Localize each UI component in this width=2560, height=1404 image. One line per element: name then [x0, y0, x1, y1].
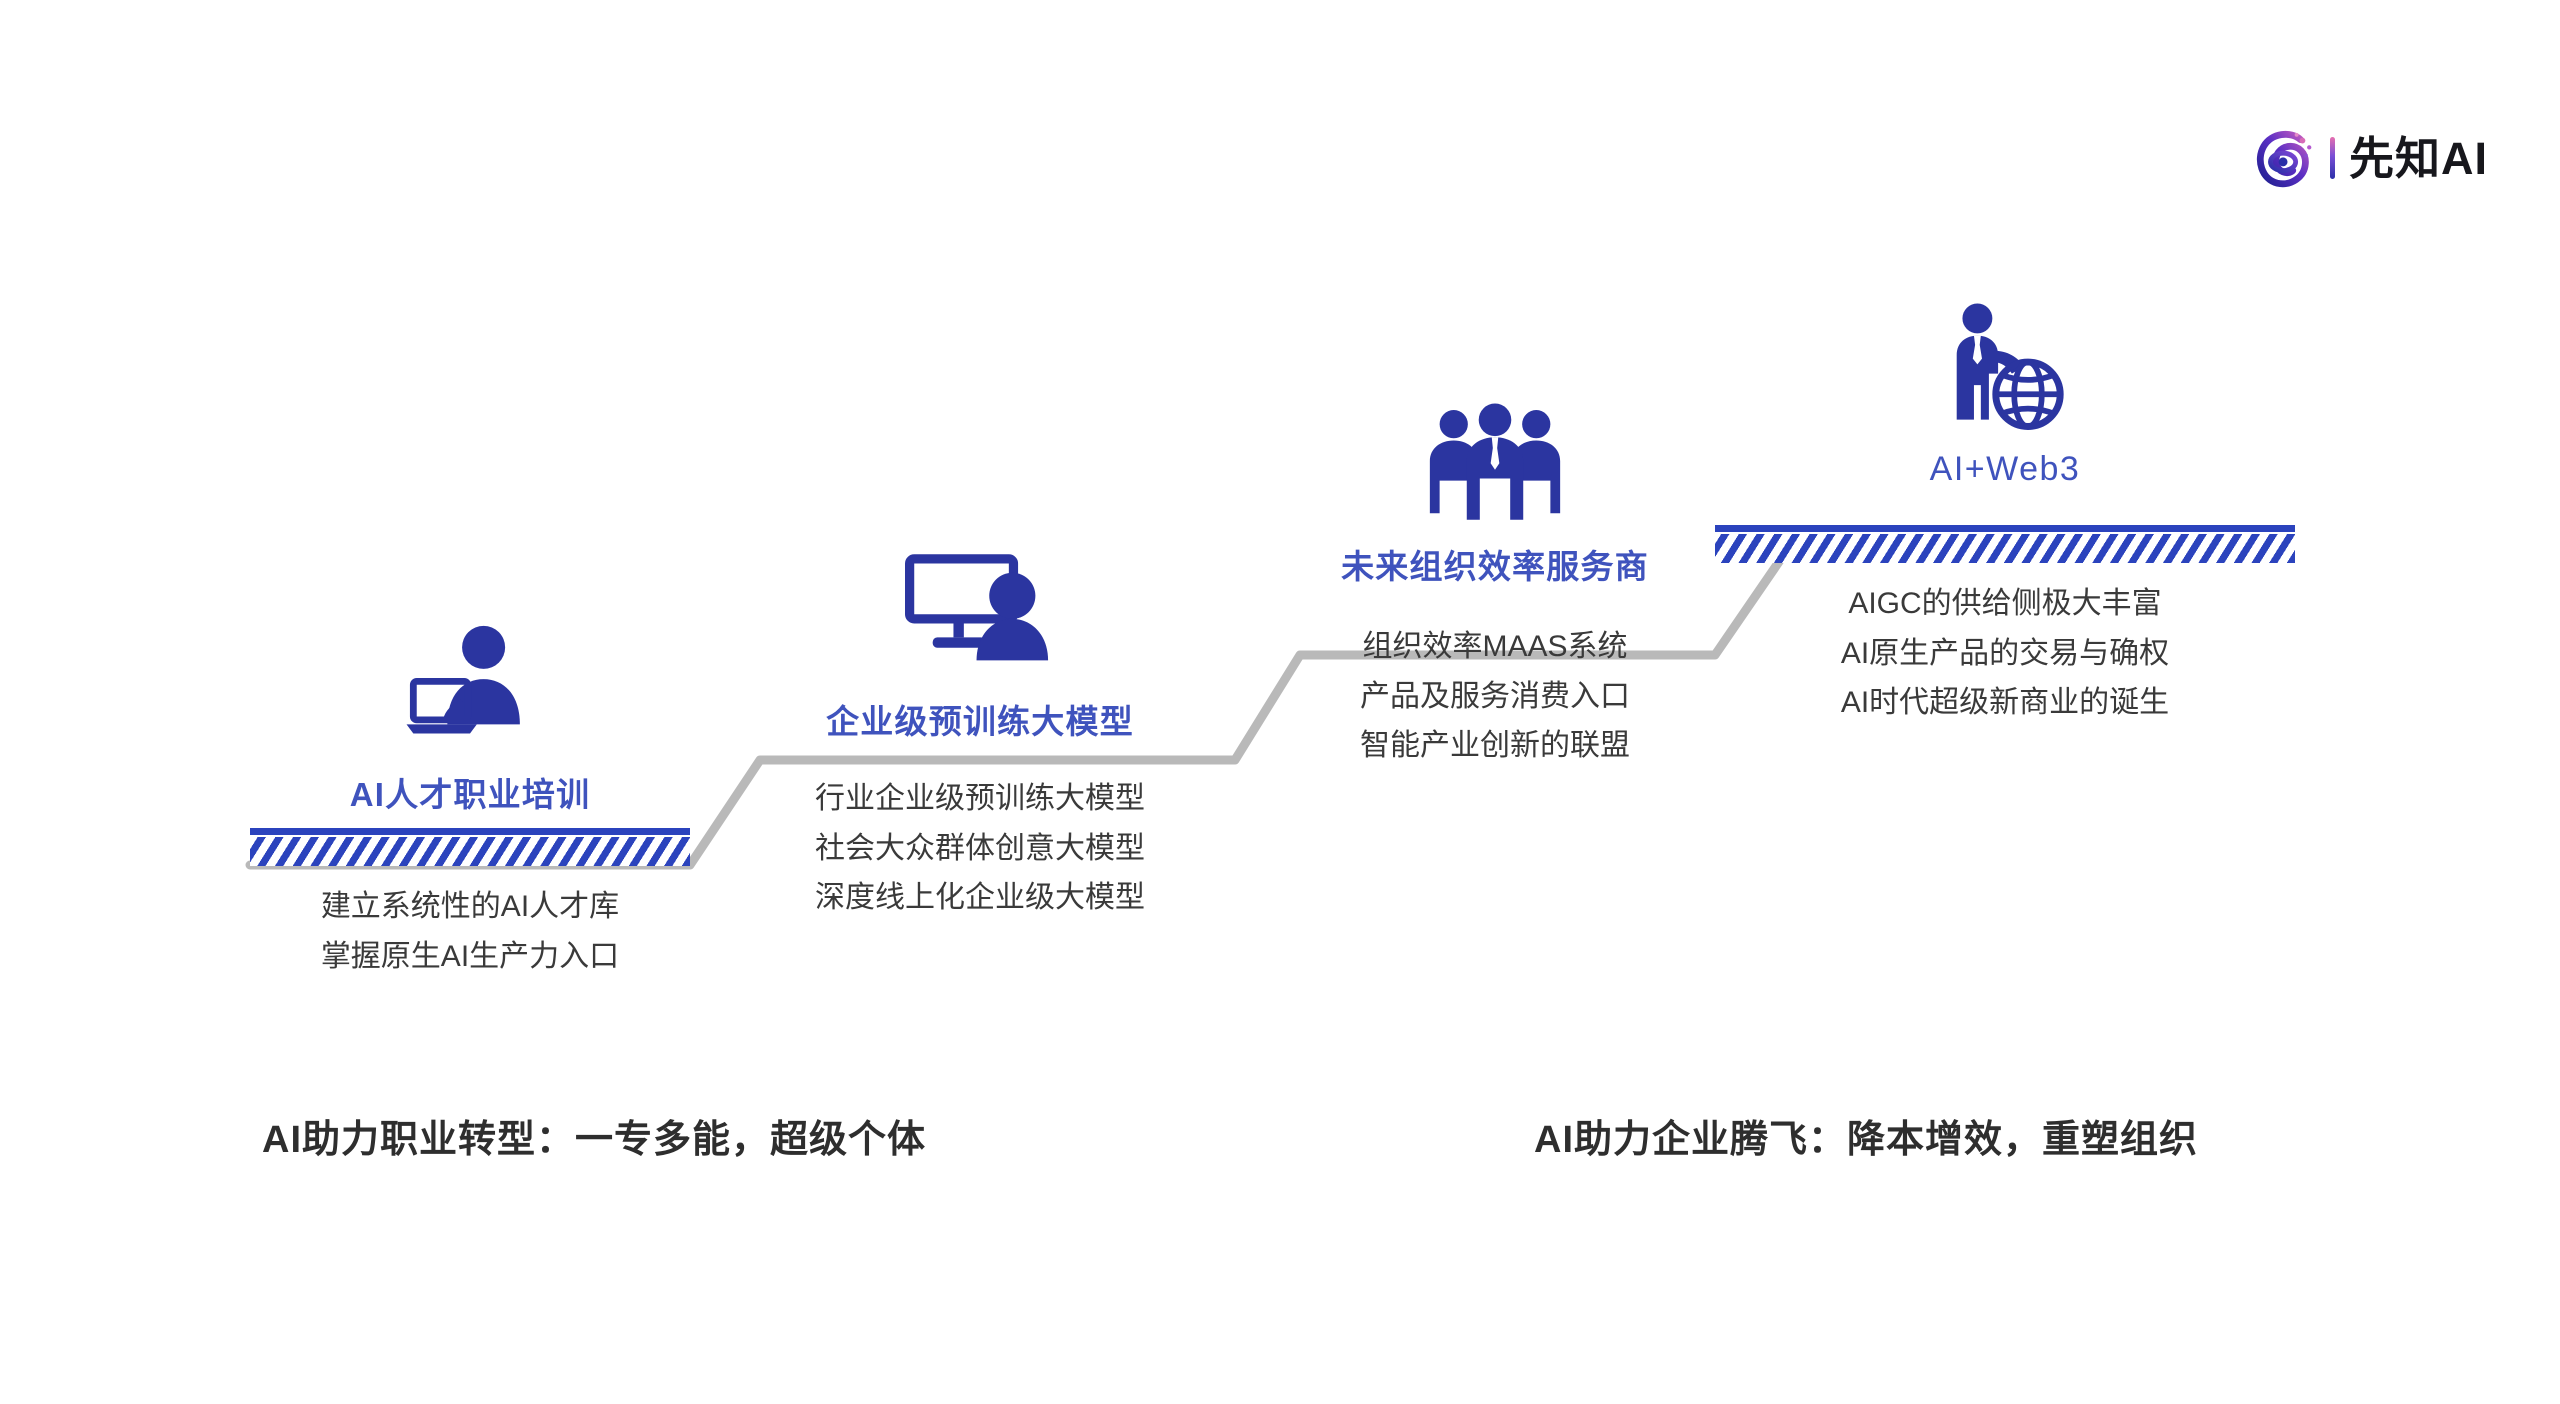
bullet-item: 社会大众群体创意大模型	[700, 830, 1260, 868]
step-4-bullets: AIGC的供给侧极大丰富 AI原生产品的交易与确权 AI时代超级新商业的诞生	[1725, 585, 2285, 734]
step-3-title: 未来组织效率服务商	[1215, 540, 1775, 588]
bullet-item: 深度线上化企业级大模型	[700, 879, 1260, 917]
three-people-group-icon	[1419, 400, 1571, 520]
step-2-bullets: 行业企业级预训练大模型 社会大众群体创意大模型 深度线上化企业级大模型	[700, 780, 1260, 929]
step-4-title: AI+Web3	[1725, 450, 2285, 489]
step-1: AI人才职业培训 建立系统性的AI人才库 掌握原生AI生产力入口	[190, 620, 750, 1020]
step-4-hatch-bar	[1715, 525, 2295, 563]
step-2-title: 企业级预训练大模型	[700, 695, 1260, 743]
monitor-with-person-icon	[905, 545, 1055, 672]
person-with-laptop-icon	[402, 620, 538, 745]
bullet-item: 建立系统性的AI人才库	[190, 888, 750, 926]
bullet-item: 掌握原生AI生产力入口	[190, 938, 750, 976]
step-1-hatch-bar	[250, 828, 690, 866]
logo-divider	[2330, 137, 2335, 179]
caption-left: AI助力职业转型：一专多能，超级个体	[262, 1108, 926, 1163]
slide-canvas: 先知AI AI人才职业培训 建立系统性的AI人才库 掌握原生AI生产力入口	[0, 0, 2560, 1404]
eye-spiral-logo-icon	[2254, 127, 2316, 189]
bullet-item: 行业企业级预训练大模型	[700, 780, 1260, 818]
bullet-item: 组织效率MAAS系统	[1215, 628, 1775, 666]
brand-logo: 先知AI	[2254, 122, 2488, 194]
brand-name: 先知AI	[2349, 136, 2488, 181]
hatch-fill	[250, 837, 690, 866]
step-3: 未来组织效率服务商 组织效率MAAS系统 产品及服务消费入口 智能产业创新的联盟	[1215, 400, 1775, 830]
bullet-item: 智能产业创新的联盟	[1215, 727, 1775, 765]
person-with-globe-icon	[1936, 300, 2074, 438]
step-1-title: AI人才职业培训	[190, 768, 750, 816]
hatch-fill	[1715, 534, 2295, 563]
caption-right: AI助力企业腾飞：降本增效，重塑组织	[1534, 1108, 2198, 1163]
bullet-item: 产品及服务消费入口	[1215, 678, 1775, 716]
bullet-item: AI时代超级新商业的诞生	[1725, 684, 2285, 722]
step-4: AI+Web3 AIGC的供给侧极大丰富 AI原生产品的交易与确权 AI时代超级…	[1725, 300, 2285, 750]
bullet-item: AI原生产品的交易与确权	[1725, 635, 2285, 673]
hatch-cap	[1715, 525, 2295, 532]
hatch-cap	[250, 828, 690, 835]
step-2: 企业级预训练大模型 行业企业级预训练大模型 社会大众群体创意大模型 深度线上化企…	[700, 545, 1260, 965]
bullet-item: AIGC的供给侧极大丰富	[1725, 585, 2285, 623]
step-3-bullets: 组织效率MAAS系统 产品及服务消费入口 智能产业创新的联盟	[1215, 628, 1775, 777]
step-1-bullets: 建立系统性的AI人才库 掌握原生AI生产力入口	[190, 888, 750, 987]
